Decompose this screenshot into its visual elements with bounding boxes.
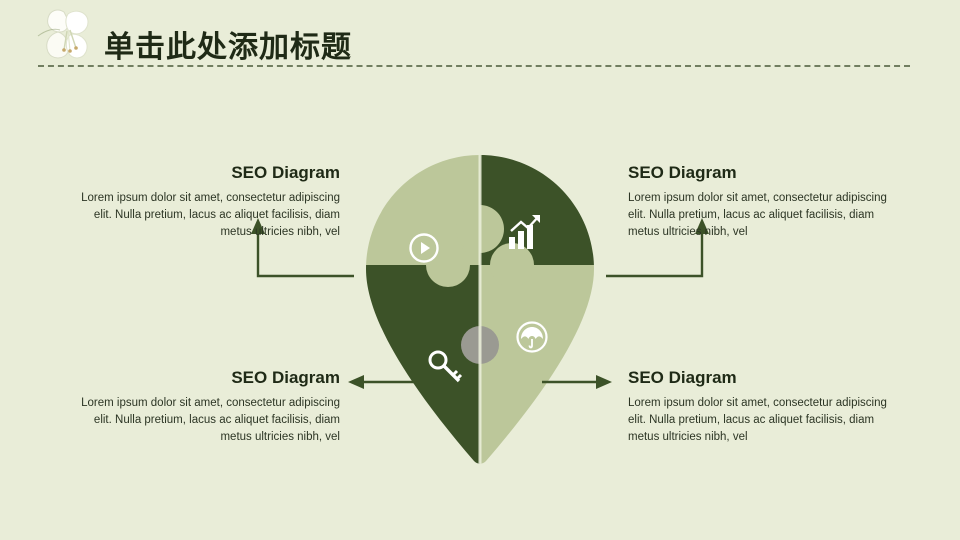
connector-arrow-bottom-left — [348, 368, 420, 396]
lily-flower-icon — [34, 6, 106, 68]
text-block-top-left: SEO Diagram Lorem ipsum dolor sit amet, … — [78, 163, 340, 240]
slide-header: 单击此处添加标题 — [0, 0, 960, 80]
header-divider — [38, 65, 910, 67]
text-block-bottom-left: SEO Diagram Lorem ipsum dolor sit amet, … — [78, 368, 340, 445]
puzzle-piece-bottom-right — [480, 265, 594, 465]
text-block-heading: SEO Diagram — [78, 368, 340, 388]
text-block-heading: SEO Diagram — [628, 163, 890, 183]
puzzle-pin-diagram — [366, 155, 594, 465]
text-block-bottom-right: SEO Diagram Lorem ipsum dolor sit amet, … — [628, 368, 890, 445]
slide-canvas: 单击此处添加标题 — [0, 0, 960, 540]
text-block-heading: SEO Diagram — [628, 368, 890, 388]
text-block-top-right: SEO Diagram Lorem ipsum dolor sit amet, … — [628, 163, 890, 240]
text-block-body: Lorem ipsum dolor sit amet, consectetur … — [78, 190, 340, 240]
text-block-body: Lorem ipsum dolor sit amet, consectetur … — [628, 190, 890, 240]
page-title: 单击此处添加标题 — [104, 22, 352, 66]
puzzle-piece-bottom-left — [366, 265, 480, 465]
text-block-heading: SEO Diagram — [78, 163, 340, 183]
connector-arrow-bottom-right — [540, 368, 612, 396]
text-block-body: Lorem ipsum dolor sit amet, consectetur … — [78, 395, 340, 445]
puzzle-piece-top-right — [480, 155, 594, 265]
text-block-body: Lorem ipsum dolor sit amet, consectetur … — [628, 395, 890, 445]
